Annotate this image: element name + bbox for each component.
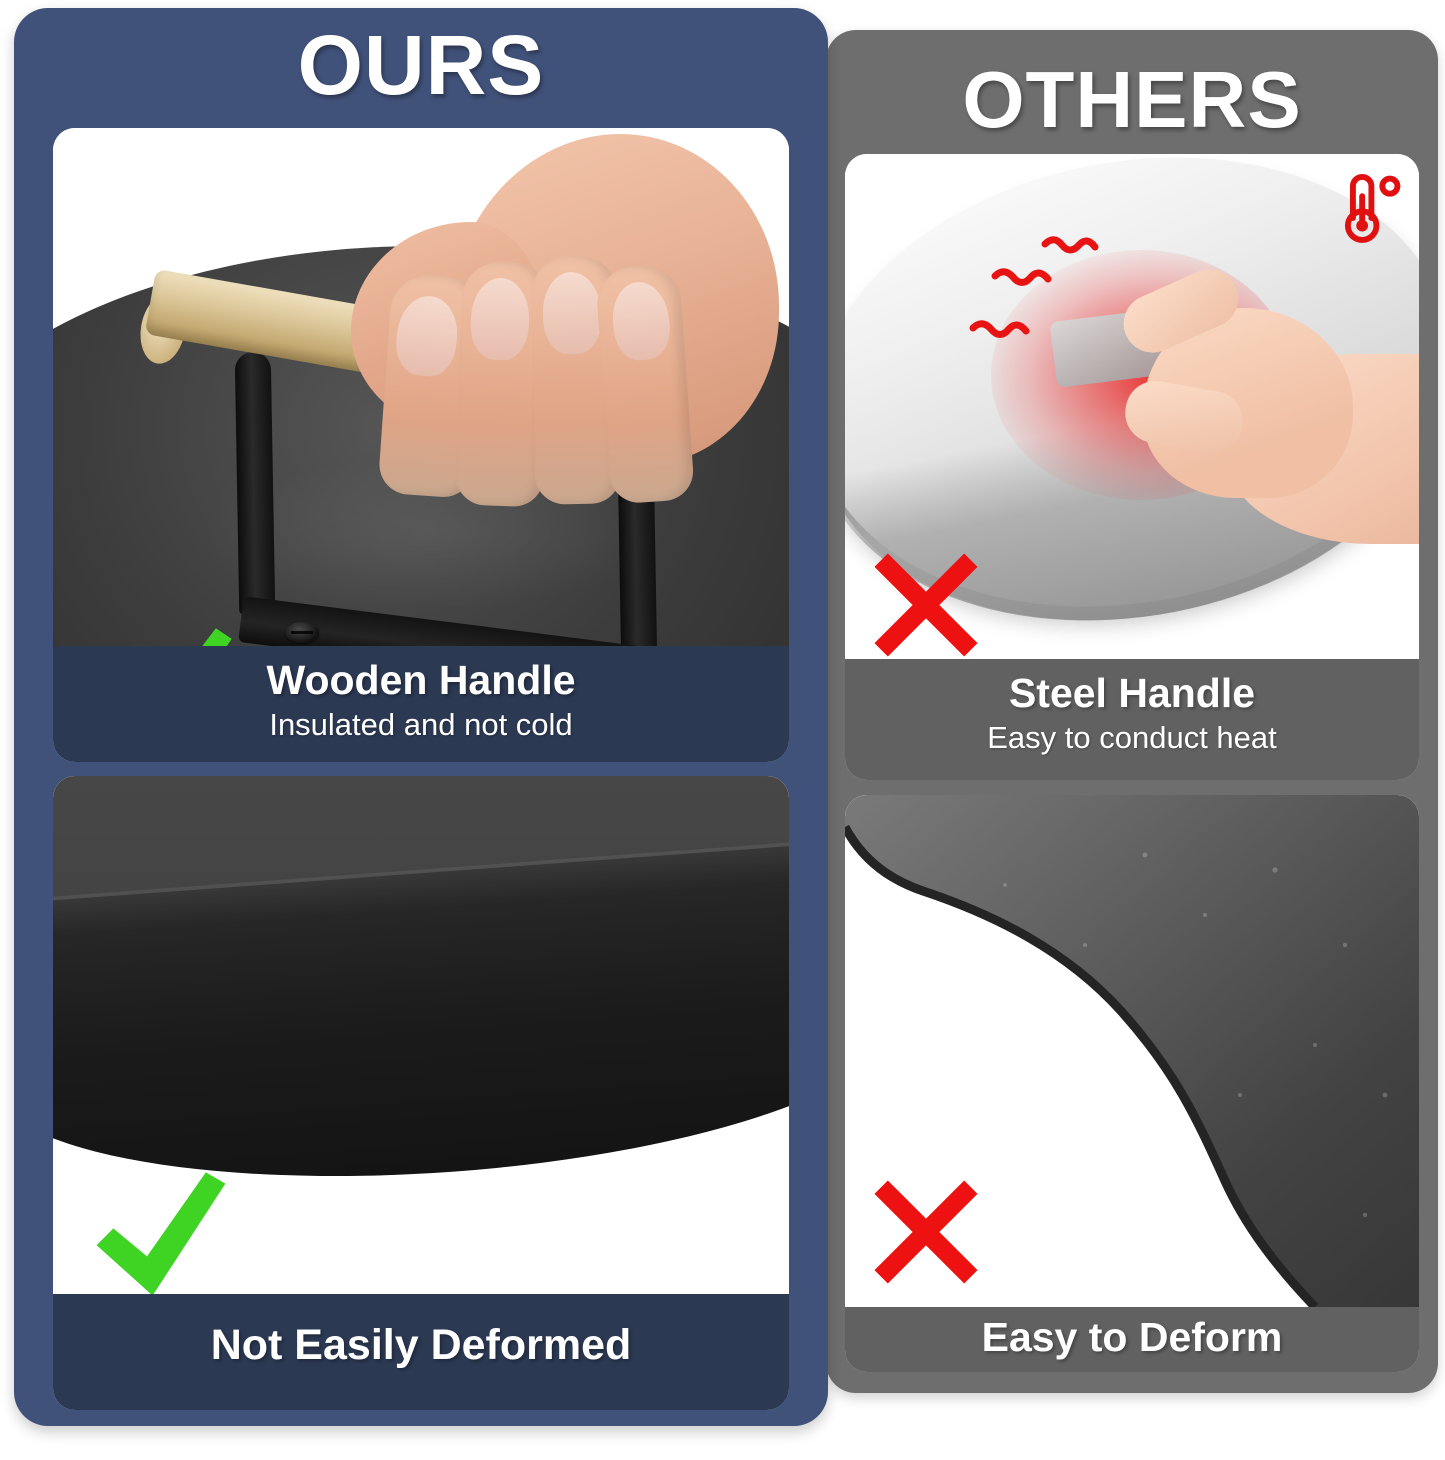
ours-card-1-subtitle: Insulated and not cold — [65, 706, 777, 745]
others-card-2-caption: Easy to Deform — [845, 1307, 1419, 1372]
others-panel: OTHERS — [826, 30, 1438, 1393]
others-card-steel-handle: Steel Handle Easy to conduct heat — [845, 154, 1419, 780]
others-card-1-title: Steel Handle — [857, 669, 1407, 717]
ours-card-2-title: Not Easily Deformed — [65, 1320, 777, 1371]
others-panel-heading: OTHERS — [826, 58, 1438, 142]
warped-plate-shape — [845, 795, 1419, 1307]
others-card-easy-to-deform: Easy to Deform — [845, 795, 1419, 1372]
ours-card-2-caption: Not Easily Deformed — [53, 1294, 789, 1410]
ours-panel: OURS — [14, 8, 828, 1426]
comparison-infographic: OTHERS — [0, 0, 1445, 1460]
others-photo-warped-edge — [845, 795, 1419, 1307]
thermometer-icon — [1321, 166, 1405, 250]
ours-photo-flat-edge — [53, 776, 789, 1294]
others-card-1-caption: Steel Handle Easy to conduct heat — [845, 659, 1419, 780]
ours-card-1-caption: Wooden Handle Insulated and not cold — [53, 646, 789, 762]
others-card-1-subtitle: Easy to conduct heat — [857, 719, 1407, 758]
ours-card-wooden-handle: Wooden Handle Insulated and not cold — [53, 128, 789, 762]
ours-panel-heading: OURS — [14, 21, 828, 109]
ours-card-not-deformed: Not Easily Deformed — [53, 776, 789, 1410]
hand-graphic — [1107, 264, 1419, 594]
others-photo-hot-steel-handle — [845, 154, 1419, 659]
ours-photo-wooden-handle — [53, 128, 789, 646]
others-card-2-title: Easy to Deform — [857, 1313, 1407, 1361]
ours-card-1-title: Wooden Handle — [65, 656, 777, 704]
hand-graphic — [321, 144, 789, 554]
